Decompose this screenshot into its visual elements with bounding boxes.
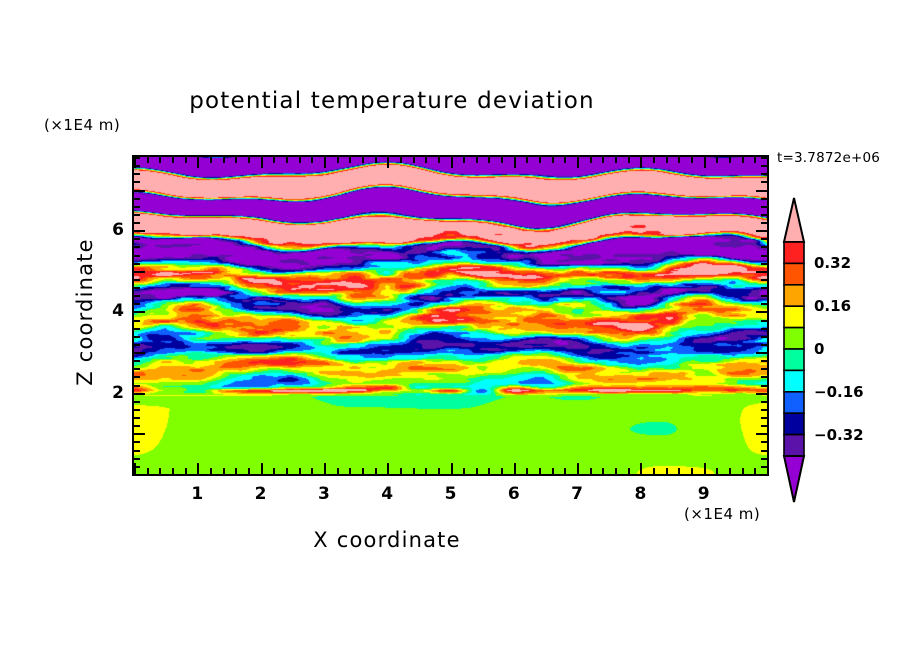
- colorbar-band: [784, 435, 804, 456]
- x-tick-bottom: [235, 468, 237, 474]
- y-tick-right: [756, 190, 767, 192]
- figure-canvas: potential temperature deviation (×1E4 m)…: [0, 0, 904, 654]
- colorbar-band: [784, 306, 804, 327]
- x-tick-top: [451, 157, 453, 168]
- y-tick-left: [134, 450, 140, 452]
- y-tick-right: [761, 368, 767, 370]
- colorbar-over-arrow: [784, 198, 804, 242]
- x-tick-top: [501, 157, 503, 163]
- x-tick-top: [425, 157, 427, 163]
- x-tick-bottom: [134, 463, 136, 474]
- x-tick-top: [716, 157, 718, 163]
- y-tick-label: 2: [100, 383, 124, 403]
- x-tick-bottom: [438, 468, 440, 474]
- y-tick-right: [761, 360, 767, 362]
- x-tick-top: [628, 157, 630, 163]
- x-tick-top: [526, 157, 528, 163]
- x-tick-bottom: [577, 463, 579, 474]
- x-tick-label: 5: [445, 484, 457, 504]
- x-tick-bottom: [387, 463, 389, 474]
- y-tick-left: [134, 376, 140, 378]
- x-tick-bottom: [476, 468, 478, 474]
- x-tick-top: [210, 157, 212, 163]
- x-tick-top: [729, 157, 731, 163]
- y-tick-right: [761, 279, 767, 281]
- x-tick-bottom: [425, 468, 427, 474]
- x-tick-bottom: [590, 468, 592, 474]
- x-tick-top: [387, 157, 389, 168]
- y-tick-right: [761, 401, 767, 403]
- y-axis-title: Z coordinate: [73, 212, 97, 412]
- x-tick-label: 4: [381, 484, 393, 504]
- x-tick-top: [488, 157, 490, 163]
- x-tick-top: [172, 157, 174, 163]
- y-tick-left: [134, 458, 140, 460]
- y-tick-left: [134, 303, 140, 305]
- x-tick-top: [615, 157, 617, 163]
- time-annotation: t=3.7872e+06: [777, 150, 880, 166]
- y-tick-right: [761, 181, 767, 183]
- x-tick-bottom: [552, 468, 554, 474]
- y-tick-right: [761, 287, 767, 289]
- x-tick-bottom: [261, 463, 263, 474]
- x-tick-bottom: [716, 468, 718, 474]
- y-tick-left: [134, 173, 140, 175]
- y-tick-right: [761, 263, 767, 265]
- y-tick-right: [761, 246, 767, 248]
- y-tick-left: [134, 222, 140, 224]
- y-tick-left: [134, 352, 145, 354]
- y-tick-right: [761, 385, 767, 387]
- x-tick-top: [223, 157, 225, 163]
- y-tick-left: [134, 311, 145, 313]
- x-tick-label: 7: [571, 484, 583, 504]
- y-tick-right: [761, 450, 767, 452]
- y-tick-left: [134, 344, 140, 346]
- x-tick-bottom: [299, 468, 301, 474]
- colorbar-band: [784, 392, 804, 413]
- x-tick-top: [463, 157, 465, 163]
- x-tick-bottom: [653, 468, 655, 474]
- colorbar-tick-label: 0.16: [814, 297, 851, 315]
- x-tick-bottom: [539, 468, 541, 474]
- x-tick-bottom: [666, 468, 668, 474]
- y-tick-left: [134, 425, 140, 427]
- y-tick-left: [134, 190, 145, 192]
- x-tick-bottom: [413, 468, 415, 474]
- y-tick-right: [756, 474, 767, 476]
- x-tick-bottom: [640, 463, 642, 474]
- x-tick-top: [311, 157, 313, 163]
- y-tick-right: [761, 328, 767, 330]
- x-tick-top: [678, 157, 680, 163]
- x-tick-bottom: [451, 463, 453, 474]
- colorbar-band: [784, 413, 804, 434]
- x-tick-bottom: [159, 468, 161, 474]
- x-tick-bottom: [488, 468, 490, 474]
- x-tick-bottom: [210, 468, 212, 474]
- x-tick-bottom: [311, 468, 313, 474]
- page-title: potential temperature deviation: [0, 88, 904, 114]
- x-tick-top: [602, 157, 604, 163]
- colorbar-tick-label: 0.32: [814, 254, 851, 272]
- y-tick-left: [134, 433, 145, 435]
- y-tick-left: [134, 287, 140, 289]
- colorbar-band: [784, 328, 804, 349]
- x-tick-bottom: [400, 468, 402, 474]
- y-tick-right: [761, 198, 767, 200]
- y-tick-left: [134, 409, 140, 411]
- x-tick-bottom: [185, 468, 187, 474]
- x-tick-top: [362, 157, 364, 163]
- x-tick-top: [539, 157, 541, 163]
- y-tick-left: [134, 157, 140, 159]
- x-tick-bottom: [628, 468, 630, 474]
- x-tick-bottom: [337, 468, 339, 474]
- colorbar: [780, 196, 810, 516]
- y-tick-left: [134, 466, 140, 468]
- x-tick-bottom: [375, 468, 377, 474]
- y-tick-right: [761, 238, 767, 240]
- x-tick-top: [413, 157, 415, 163]
- y-tick-left: [134, 198, 140, 200]
- x-tick-label: 3: [318, 484, 330, 504]
- y-tick-label: 4: [100, 301, 124, 321]
- y-tick-left: [134, 238, 140, 240]
- x-tick-label: 1: [191, 484, 203, 504]
- x-tick-top: [767, 157, 769, 168]
- x-tick-bottom: [172, 468, 174, 474]
- x-tick-top: [286, 157, 288, 163]
- y-tick-right: [756, 311, 767, 313]
- x-tick-bottom: [286, 468, 288, 474]
- y-tick-right: [761, 417, 767, 419]
- y-tick-right: [756, 230, 767, 232]
- y-tick-left: [134, 474, 145, 476]
- x-tick-label: 8: [634, 484, 646, 504]
- x-tick-top: [552, 157, 554, 163]
- y-tick-right: [756, 433, 767, 435]
- y-tick-left: [134, 336, 140, 338]
- x-tick-top: [400, 157, 402, 163]
- colorbar-band: [784, 349, 804, 370]
- x-tick-top: [704, 157, 706, 168]
- y-tick-right: [761, 165, 767, 167]
- x-tick-top: [564, 157, 566, 163]
- y-tick-right: [761, 336, 767, 338]
- x-tick-bottom: [197, 463, 199, 474]
- x-tick-bottom: [691, 468, 693, 474]
- colorbar-band: [784, 285, 804, 306]
- x-tick-bottom: [704, 463, 706, 474]
- x-tick-top: [261, 157, 263, 168]
- x-tick-top: [349, 157, 351, 163]
- x-tick-label: 6: [508, 484, 520, 504]
- x-axis-title-text: X coordinate: [313, 528, 590, 552]
- x-tick-top: [159, 157, 161, 163]
- x-tick-bottom: [463, 468, 465, 474]
- x-tick-top: [197, 157, 199, 168]
- x-axis-unit-label: (×1E4 m): [684, 505, 760, 523]
- y-tick-left: [134, 206, 140, 208]
- x-tick-top: [653, 157, 655, 163]
- y-tick-left: [134, 214, 140, 216]
- x-tick-top: [248, 157, 250, 163]
- x-tick-top: [299, 157, 301, 163]
- y-tick-right: [761, 214, 767, 216]
- colorbar-tick-label: 0: [814, 340, 824, 358]
- colorbar-band: [784, 242, 804, 263]
- x-tick-bottom: [349, 468, 351, 474]
- contour-field: [134, 157, 767, 474]
- x-tick-label: 9: [698, 484, 710, 504]
- x-tick-top: [754, 157, 756, 163]
- y-tick-left: [134, 401, 140, 403]
- x-tick-bottom: [147, 468, 149, 474]
- y-tick-right: [761, 206, 767, 208]
- x-tick-bottom: [501, 468, 503, 474]
- colorbar-band: [784, 263, 804, 284]
- y-tick-left: [134, 385, 140, 387]
- x-tick-bottom: [742, 468, 744, 474]
- x-tick-top: [640, 157, 642, 168]
- x-tick-bottom: [362, 468, 364, 474]
- x-tick-bottom: [564, 468, 566, 474]
- y-tick-right: [761, 157, 767, 159]
- colorbar-band: [784, 370, 804, 391]
- x-tick-top: [666, 157, 668, 163]
- y-tick-right: [761, 255, 767, 257]
- y-tick-left: [134, 360, 140, 362]
- x-tick-bottom: [514, 463, 516, 474]
- y-tick-right: [756, 393, 767, 395]
- y-tick-right: [756, 271, 767, 273]
- y-tick-left: [134, 328, 140, 330]
- y-tick-label: 6: [100, 220, 124, 240]
- y-tick-right: [761, 320, 767, 322]
- x-tick-top: [577, 157, 579, 168]
- y-tick-left: [134, 279, 140, 281]
- y-tick-left: [134, 255, 140, 257]
- y-tick-right: [761, 458, 767, 460]
- x-tick-top: [742, 157, 744, 163]
- x-tick-bottom: [615, 468, 617, 474]
- y-tick-left: [134, 271, 145, 273]
- y-tick-left: [134, 295, 140, 297]
- y-tick-right: [761, 466, 767, 468]
- y-tick-left: [134, 181, 140, 183]
- y-tick-right: [761, 173, 767, 175]
- y-tick-right: [761, 425, 767, 427]
- x-tick-bottom: [602, 468, 604, 474]
- y-tick-right: [761, 303, 767, 305]
- colorbar-under-arrow: [784, 456, 804, 502]
- x-tick-top: [235, 157, 237, 163]
- x-tick-top: [590, 157, 592, 163]
- x-tick-top: [147, 157, 149, 163]
- x-tick-top: [691, 157, 693, 163]
- y-tick-left: [134, 246, 140, 248]
- x-tick-top: [324, 157, 326, 168]
- x-tick-top: [337, 157, 339, 163]
- x-tick-bottom: [767, 463, 769, 474]
- y-tick-right: [761, 409, 767, 411]
- y-tick-left: [134, 368, 140, 370]
- y-tick-right: [756, 352, 767, 354]
- y-tick-left: [134, 417, 140, 419]
- colorbar-tick-label: −0.16: [814, 383, 864, 401]
- x-tick-bottom: [248, 468, 250, 474]
- x-tick-top: [273, 157, 275, 163]
- colorbar-tick-label: −0.32: [814, 426, 864, 444]
- z-axis-unit-label: (×1E4 m): [44, 116, 120, 134]
- y-tick-right: [761, 222, 767, 224]
- x-axis-title: X coordinate: [0, 528, 904, 552]
- x-tick-bottom: [273, 468, 275, 474]
- x-tick-label: 2: [255, 484, 267, 504]
- y-tick-left: [134, 441, 140, 443]
- x-tick-bottom: [223, 468, 225, 474]
- x-tick-bottom: [678, 468, 680, 474]
- x-tick-top: [476, 157, 478, 163]
- x-tick-bottom: [324, 463, 326, 474]
- y-tick-left: [134, 230, 145, 232]
- y-tick-left: [134, 393, 145, 395]
- x-tick-top: [185, 157, 187, 163]
- y-tick-left: [134, 263, 140, 265]
- y-tick-right: [761, 295, 767, 297]
- page-title-text: potential temperature deviation: [189, 88, 715, 114]
- x-tick-top: [375, 157, 377, 163]
- y-tick-left: [134, 320, 140, 322]
- x-tick-bottom: [729, 468, 731, 474]
- x-tick-top: [514, 157, 516, 168]
- y-tick-left: [134, 165, 140, 167]
- x-tick-top: [438, 157, 440, 163]
- y-tick-right: [761, 344, 767, 346]
- y-tick-right: [761, 376, 767, 378]
- y-tick-right: [761, 441, 767, 443]
- x-tick-bottom: [526, 468, 528, 474]
